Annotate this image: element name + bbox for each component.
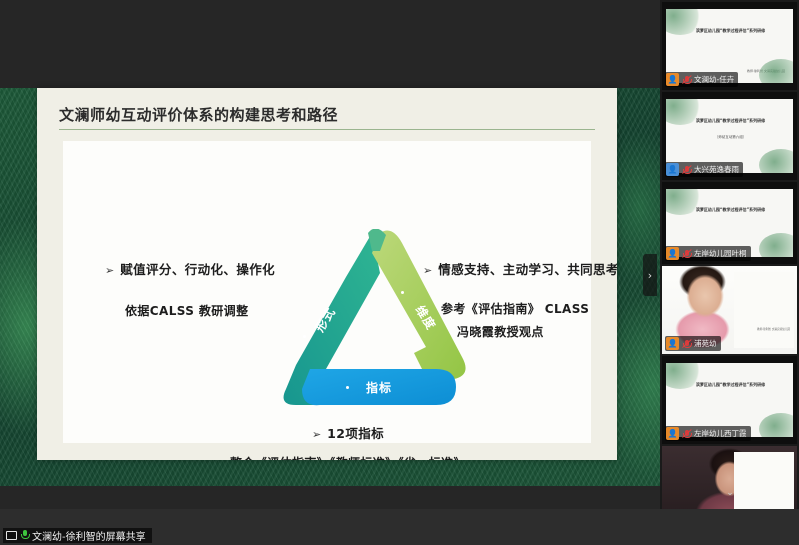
left-sub-text: 依据CALSS 教研调整	[125, 302, 275, 319]
thumb-subtitle: （师幼互动第六组）	[674, 135, 787, 140]
participant-name: 文澜幼-任卉	[694, 74, 734, 85]
participant-tile[interactable]: 滨萝区幼儿园“教学过程评估”系列研修 👤 左岸幼儿园叶桐	[662, 182, 797, 264]
participant-name: 大兴苑逸春雨	[694, 164, 739, 175]
slide-card: 文澜师幼互动评价体系的构建思考和路径	[37, 88, 617, 460]
participant-namebar: 👤 浦苑幼	[665, 336, 721, 351]
participant-name: 左岸幼儿园叶桐	[694, 248, 747, 259]
participant-namebar: 👤 左岸幼儿西丁霞	[665, 426, 751, 441]
triangle-dot-dimension	[401, 291, 404, 294]
microphone-on-icon	[20, 530, 29, 541]
arrow-bullet-icon: ➢	[423, 265, 432, 276]
right-sub-text-1: 参考《评估指南》 CLASS	[441, 300, 617, 317]
meeting-window: 文澜师幼互动评价体系的构建思考和路径	[0, 0, 799, 545]
person-icon: 👤	[666, 427, 679, 440]
person-icon: 👤	[666, 247, 679, 260]
person-icon: 👤	[666, 337, 679, 350]
bottom-bullet-text: 12项指标	[327, 423, 384, 442]
participant-tile[interactable]: 滨萝区幼儿园“教学过程评估”系列研修 👤 左岸幼儿西丁霞	[662, 356, 797, 444]
strip-collapse-chevron-icon[interactable]: ⌄	[722, 487, 738, 499]
screen-share-label: 文澜幼-徐利智的屏幕共享	[32, 528, 146, 543]
arrow-bullet-icon: ➢	[105, 265, 114, 276]
microphone-muted-icon	[682, 339, 691, 349]
triangle-label-indicator: 指标	[366, 379, 392, 396]
bottom-bar: 文澜幼-徐利智的屏幕共享 @会议用户93142	[0, 509, 799, 545]
thumb-title: 滨萝区幼儿园“教学过程评估”系列研修	[674, 28, 787, 34]
left-bullet-row: ➢ 赋值评分、行动化、操作化	[105, 259, 275, 278]
right-bullet-row: ➢ 情感支持、主动学习、共同思考	[423, 259, 617, 278]
title-divider	[59, 129, 595, 130]
thumb-footer: 教师:徐利智 文澜实验幼儿园	[757, 328, 790, 332]
right-text-block: ➢ 情感支持、主动学习、共同思考 参考《评估指南》 CLASS 冯晓霞教授观点	[423, 259, 617, 340]
bottom-text-block: ➢ 12项指标 整合《评估指南》《教师标准》《省一标准》	[203, 423, 493, 460]
microphone-muted-icon	[682, 429, 691, 439]
thumb-footer: 教师:徐利智 文澜实验幼儿园	[747, 69, 785, 74]
thumb-title: 滨萝区幼儿园“教学过程评估”系列研修	[674, 382, 787, 388]
bottom-sub-text: 整合《评估指南》《教师标准》《省一标准》	[203, 454, 493, 460]
participant-video-strip[interactable]: 滨萝区幼儿园“教学过程评估”系列研修 教师:徐利智 文澜实验幼儿园 👤 文澜幼-…	[660, 0, 799, 509]
monitor-icon	[6, 531, 17, 540]
arrow-bullet-icon: ➢	[312, 429, 321, 440]
participant-tile[interactable]: 杭州市幼儿园联合体	[662, 446, 797, 509]
thumb-title: 滨萝区幼儿园“教学过程评估”系列研修	[674, 207, 787, 213]
participant-namebar: 👤 大兴苑逸春雨	[665, 162, 743, 177]
shared-screen-stage: 文澜师幼互动评价体系的构建思考和路径	[0, 0, 660, 509]
left-bullet-text: 赋值评分、行动化、操作化	[120, 259, 275, 278]
microphone-muted-icon	[682, 75, 691, 85]
triangle-dot-form	[303, 335, 306, 338]
slide-content-panel: 形式 维度 指标 ➢ 赋值评分、行动化、操作化 依据CALSS 教研调整	[63, 141, 591, 443]
left-text-block: ➢ 赋值评分、行动化、操作化 依据CALSS 教研调整	[105, 259, 275, 319]
thumb-title: 滨萝区幼儿园“教学过程评估”系列研修	[674, 118, 787, 124]
participant-tile[interactable]: 滨萝区幼儿园“教学过程评估”系列研修 （师幼互动第六组） 👤 大兴苑逸春雨	[662, 92, 797, 180]
collapse-panel-chevron-icon[interactable]: ›	[643, 254, 657, 296]
microphone-muted-icon	[682, 165, 691, 175]
participant-tile[interactable]: 滨萝区幼儿园“教学过程评估”系列研修 教师:徐利智 文澜实验幼儿园 👤 文澜幼-…	[662, 2, 797, 90]
person-icon: 👤	[666, 73, 679, 86]
shared-slide-thumbnail: 教师:徐利智 文澜实验幼儿园	[734, 272, 794, 348]
participant-name: 浦苑幼	[694, 338, 717, 349]
participant-namebar: 👤 左岸幼儿园叶桐	[665, 246, 751, 261]
microphone-muted-icon	[682, 249, 691, 259]
person-icon: 👤	[666, 163, 679, 176]
participant-tile[interactable]: 教师:徐利智 文澜实验幼儿园 👤 浦苑幼	[662, 266, 797, 354]
right-sub-text-2: 冯晓霞教授观点	[457, 323, 617, 340]
right-bullet-text: 情感支持、主动学习、共同思考	[438, 259, 617, 278]
slide-title: 文澜师幼互动评价体系的构建思考和路径	[59, 104, 338, 125]
participant-name: 左岸幼儿西丁霞	[694, 428, 747, 439]
bottom-bullet-row: ➢ 12项指标	[203, 423, 493, 442]
participant-namebar: 👤 文澜幼-任卉	[665, 72, 738, 87]
shared-slide-thumbnail	[734, 452, 794, 509]
triangle-dot-indicator	[346, 386, 349, 389]
screen-share-indicator: 文澜幼-徐利智的屏幕共享	[3, 528, 152, 543]
